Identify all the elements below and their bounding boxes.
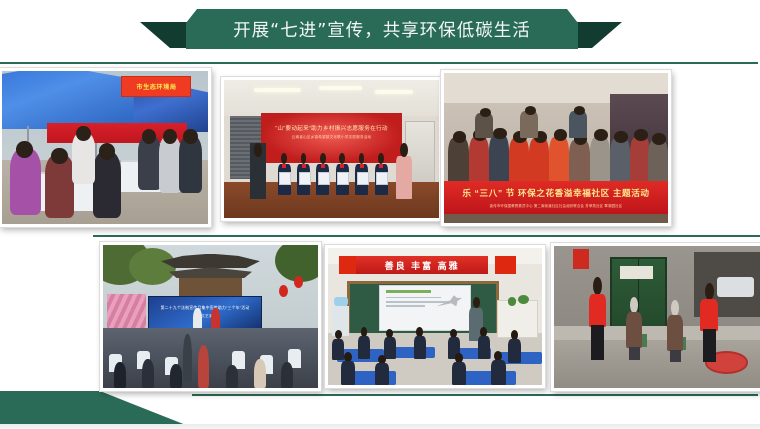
student — [316, 153, 329, 194]
head — [593, 277, 602, 295]
body — [250, 156, 266, 199]
doorstep — [554, 326, 760, 340]
teacher-left — [250, 143, 266, 198]
visitor-head — [51, 148, 67, 165]
head — [359, 153, 365, 164]
audience-member — [170, 364, 182, 388]
student — [375, 153, 388, 194]
floor — [444, 214, 668, 223]
scarf — [379, 164, 383, 168]
person-back — [475, 113, 493, 138]
photo-6-content — [554, 246, 760, 388]
body — [358, 336, 370, 359]
smart-display — [379, 285, 471, 331]
certificate — [279, 172, 291, 185]
audience-member — [254, 359, 266, 388]
ceiling-lamp — [375, 90, 414, 94]
head — [480, 108, 491, 117]
head — [634, 129, 647, 141]
head — [339, 153, 345, 164]
body — [375, 363, 389, 385]
head — [671, 300, 679, 316]
wall-poster — [573, 249, 589, 269]
student — [452, 353, 466, 385]
scarf — [302, 164, 306, 168]
elderly-resident — [626, 297, 642, 359]
slide-title-bar — [386, 290, 431, 293]
door-notice — [620, 266, 653, 279]
body — [491, 360, 506, 385]
body — [626, 312, 642, 348]
performer — [211, 308, 220, 329]
title-ribbon: 开展“七进”宣传，共享环保低碳生活 — [140, 9, 622, 53]
parked-car — [717, 277, 754, 297]
decor-flowers — [107, 294, 146, 331]
legs — [629, 347, 640, 359]
scarf — [282, 164, 286, 168]
head — [493, 128, 506, 140]
head — [400, 143, 408, 156]
student — [355, 153, 368, 194]
divider-bottom — [192, 394, 758, 396]
scarf — [360, 164, 364, 168]
head — [630, 297, 638, 313]
student — [491, 351, 506, 385]
photo-4-content: 第二十九个法制宣传月集中宣传助力“三个年”活动 法治文艺演出 — [103, 245, 318, 388]
photo-school-award-ceremony[interactable]: “山”要动起来”助力乡村振兴志愿服务在行动 云南省山区乡镇希望镇文化联小学志愿服… — [221, 77, 442, 221]
classroom-motto-text: 善良 丰富 高雅 — [356, 256, 489, 274]
event-banner-line2: 宣传市环保国教督委员中心 第二南街道社区社会组织联合会 芳菲苑社区 翠湖园社区 — [444, 203, 668, 208]
photo-community-group-photo[interactable]: 乐 “三八” 节 环保之花香溢幸福社区 主题活动 宣传市环保国教督委员中心 第二… — [441, 70, 671, 226]
event-banner-line1: 乐 “三八” 节 环保之花香溢幸福社区 主题活动 — [444, 187, 668, 199]
audience-member — [226, 365, 238, 388]
audience-member — [281, 362, 293, 388]
student — [478, 327, 490, 359]
student — [508, 330, 521, 363]
volunteer-right — [700, 283, 718, 363]
lantern — [279, 285, 288, 297]
booth-sign-text: 市生态环境局 — [122, 77, 190, 97]
slide-text-line — [386, 297, 442, 299]
certificate — [376, 172, 388, 185]
elderly-resident — [667, 300, 683, 362]
legs — [703, 329, 716, 362]
body — [414, 336, 426, 359]
staff-head — [76, 126, 90, 141]
head — [473, 297, 480, 308]
legs — [670, 350, 681, 362]
body — [396, 156, 412, 199]
tent-front — [2, 71, 134, 129]
divider-middle — [93, 235, 760, 237]
photo-outdoor-stage-performance[interactable]: 第二十九个法制宣传月集中宣传助力“三个年”活动 法治文艺演出 — [100, 242, 321, 391]
photo-classroom-lesson[interactable]: 善良 丰富 高雅 — [325, 245, 545, 388]
head — [574, 106, 585, 115]
head — [614, 131, 627, 143]
slide-canvas: 开展“七进”宣传，共享环保低碳生活 市生态环境局 — [0, 0, 760, 429]
camera-operator — [183, 334, 192, 383]
teacher-right — [396, 143, 412, 198]
student — [375, 355, 389, 385]
body — [667, 315, 683, 351]
led-screen-line2: 云南省山区乡镇希望镇文化联小学志愿服务活动 — [261, 135, 403, 140]
photo-5-content: 善良 丰富 高雅 — [328, 248, 542, 385]
student — [297, 153, 310, 194]
body — [341, 361, 355, 385]
ceiling-lamp — [254, 88, 301, 92]
red-vest — [589, 294, 606, 327]
divider-top — [0, 62, 758, 64]
legs — [591, 325, 603, 360]
photo-2-content: “山”要动起来”助力乡村振兴志愿服务在行动 云南省山区乡镇希望镇文化联小学志愿服… — [224, 80, 439, 218]
photo-volunteer-street-outreach[interactable] — [551, 243, 760, 391]
head — [594, 129, 607, 141]
photo-1-content: 市生态环境局 — [2, 71, 208, 224]
performer — [193, 308, 202, 329]
stage-screen-line2: 法治文艺演出 — [149, 314, 261, 319]
audience-member — [142, 359, 154, 388]
stage-led-screen: 第二十九个法制宣传月集中宣传助力“三个年”活动 法治文艺演出 — [148, 296, 262, 331]
page-title: 开展“七进”宣传，共享环保低碳生活 — [186, 9, 578, 49]
head — [335, 330, 342, 339]
student-desk — [461, 371, 517, 385]
audience-member — [114, 362, 126, 388]
scarf — [340, 164, 344, 168]
volunteer-left — [589, 277, 606, 359]
slide-baseline — [0, 424, 760, 429]
head — [301, 153, 307, 164]
student — [336, 153, 349, 194]
visitor-head — [16, 141, 32, 158]
temple-roof-upper — [161, 254, 260, 269]
certificate — [299, 172, 311, 185]
student — [414, 327, 426, 359]
visitor — [93, 151, 122, 218]
head — [705, 283, 714, 300]
audience-member — [198, 345, 209, 388]
slide-text-line — [386, 301, 449, 303]
head — [525, 106, 536, 115]
photo-outdoor-booth-event[interactable]: 市生态环境局 — [0, 68, 211, 227]
head — [378, 153, 384, 164]
temple-building — [161, 254, 260, 297]
head — [652, 133, 665, 145]
stage-screen-line1: 第二十九个法制宣传月集中宣传助力“三个年”活动 — [149, 305, 261, 311]
body — [508, 339, 521, 363]
certificate — [357, 172, 369, 185]
national-flag — [495, 256, 516, 274]
body — [452, 362, 466, 385]
body — [478, 336, 490, 359]
temple-body — [179, 278, 242, 297]
event-banner: 乐 “三八” 节 环保之花香溢幸福社区 主题活动 宣传市环保国教督委员中心 第二… — [444, 181, 668, 217]
plant — [508, 297, 517, 305]
certificate — [318, 172, 330, 185]
visitor-head — [183, 129, 197, 144]
photo-3-content: 乐 “三八” 节 环保之花香溢幸福社区 主题活动 宣传市环保国教督委员中心 第二… — [444, 73, 668, 223]
student — [341, 352, 355, 385]
student — [358, 327, 370, 359]
ceiling-lamp — [319, 86, 362, 90]
led-screen-line1: “山”要动起来”助力乡村振兴志愿服务在行动 — [261, 124, 403, 132]
slide-text-line — [386, 305, 426, 307]
person-back — [520, 111, 538, 138]
head — [320, 153, 326, 164]
student — [278, 153, 291, 194]
certificate — [337, 172, 349, 185]
head — [281, 153, 287, 164]
person-back — [569, 111, 587, 138]
red-vest — [700, 299, 718, 331]
visitor-head — [99, 143, 115, 160]
booth-sign: 市生态环境局 — [121, 76, 191, 98]
head — [254, 143, 262, 156]
classroom-motto-banner: 善良 丰富 高雅 — [356, 256, 489, 274]
scarf — [321, 164, 325, 168]
